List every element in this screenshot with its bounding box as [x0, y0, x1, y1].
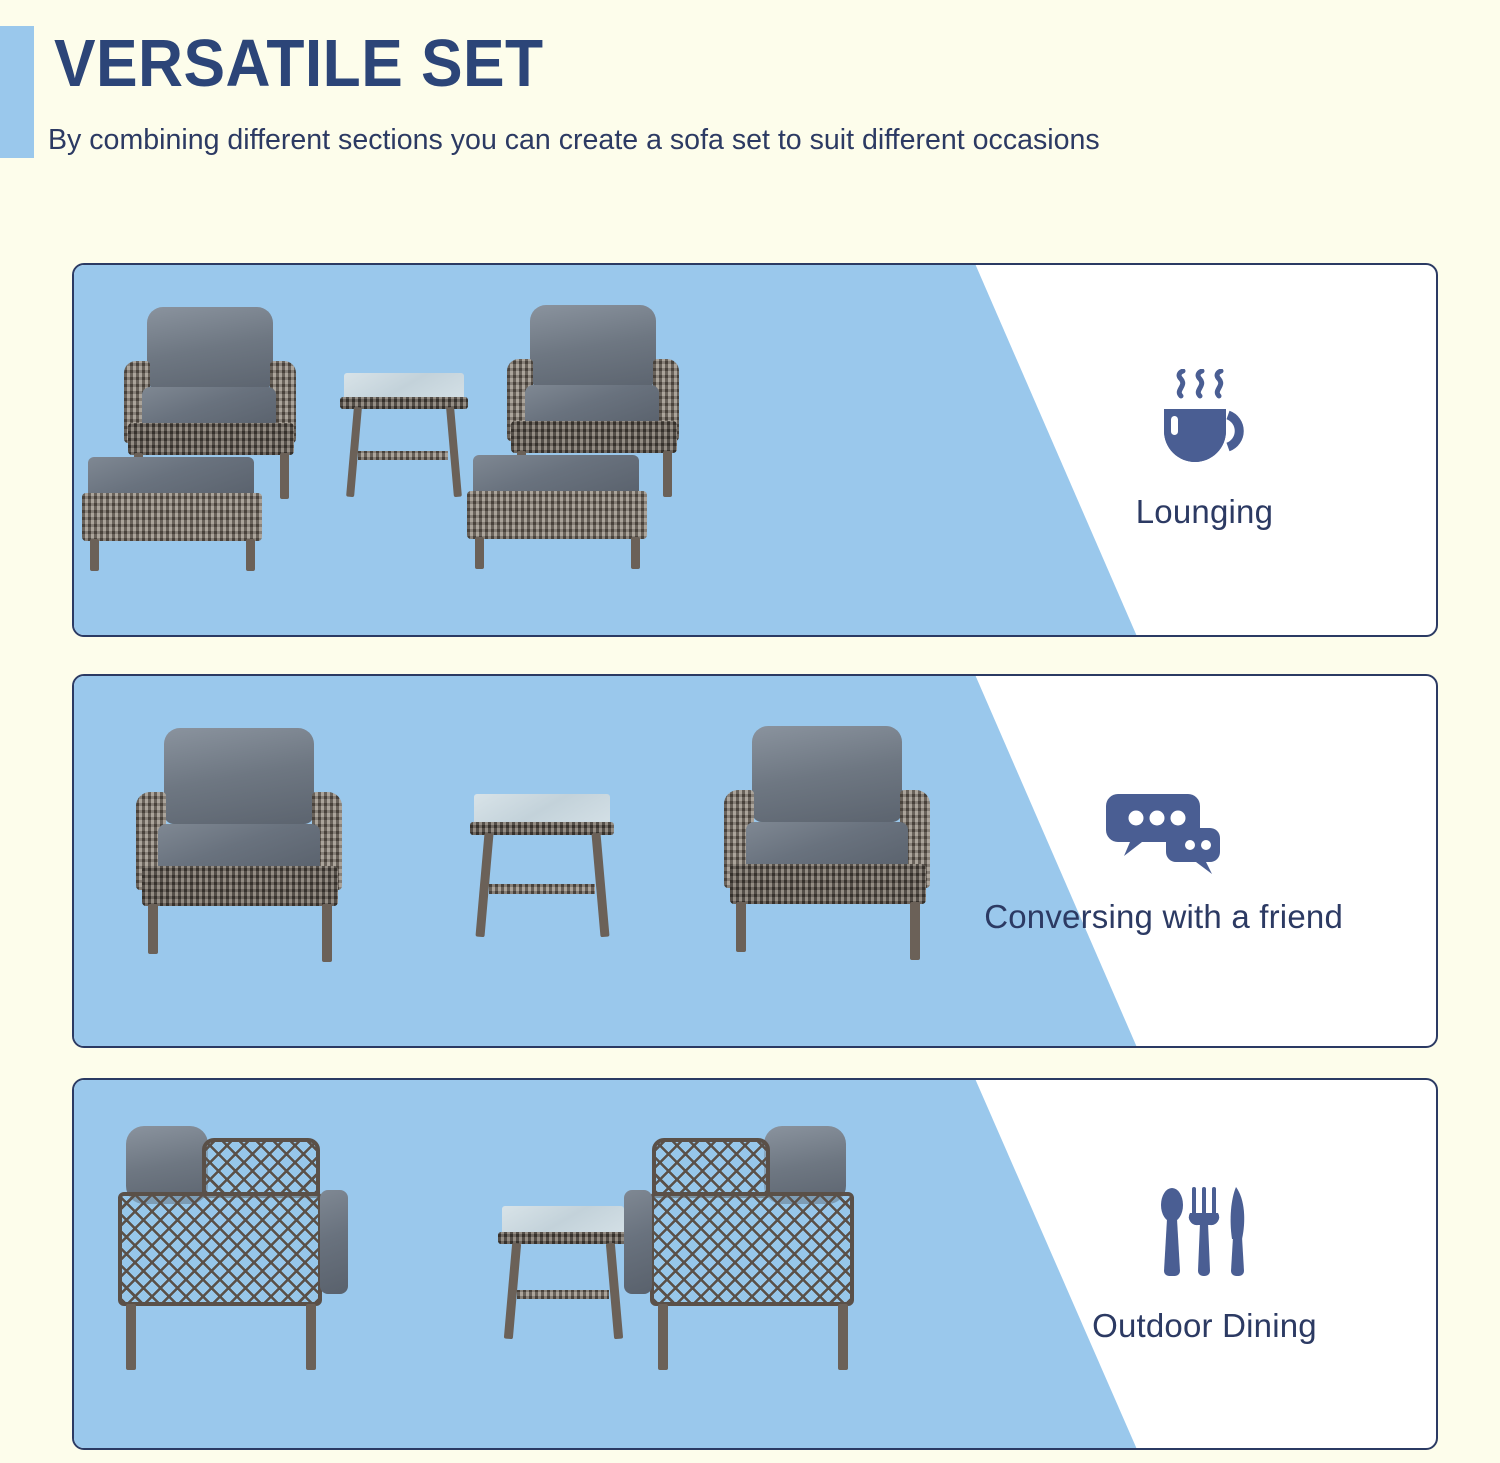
chair-front-apron [142, 866, 338, 906]
table-rim [498, 1232, 628, 1244]
chair-leg [322, 904, 332, 962]
panel-lounging: Lounging [72, 263, 1438, 637]
panel-dining: Outdoor Dining [72, 1078, 1438, 1450]
furniture-scene-lounging [74, 265, 973, 635]
chair-back-cushion [752, 726, 902, 822]
icon-column-lounging: Lounging [973, 265, 1436, 635]
furniture-scene-conversing [74, 676, 973, 1046]
ottoman-leg [475, 537, 484, 569]
chair-leg [838, 1304, 848, 1370]
chair-front-apron [511, 421, 677, 453]
chair-back-cushion [530, 305, 656, 387]
chair-seat-cushion-edge [624, 1190, 652, 1294]
chair-back-cushion [164, 728, 314, 824]
table-stretcher [517, 1290, 609, 1299]
ottoman-leg [631, 537, 640, 569]
chair-back-cushion [147, 307, 273, 389]
panel-conversing: Conversing with a friend [72, 674, 1438, 1048]
chair-leg [126, 1304, 136, 1370]
cutlery-icon [1152, 1183, 1256, 1287]
chair-backrest-lattice [652, 1138, 770, 1198]
furniture-scene-dining [74, 1080, 973, 1448]
chair-side-lattice [650, 1192, 854, 1306]
ottoman-frame [467, 491, 647, 539]
chat-bubbles-icon [1106, 786, 1222, 878]
header-accent-bar [0, 26, 34, 158]
chair-leg [658, 1304, 668, 1370]
coffee-cup-icon [1150, 369, 1258, 473]
chair-leg [148, 904, 158, 954]
page-subtitle: By combining different sections you can … [48, 126, 1100, 155]
chair-seat-cushion-edge [320, 1190, 348, 1294]
panel-label-lounging: Lounging [1136, 493, 1273, 531]
table-stretcher [358, 451, 448, 460]
table-leg [446, 407, 462, 497]
chair-leg [736, 902, 746, 952]
panel-label-conversing: Conversing with a friend [984, 898, 1343, 936]
chair-side-lattice [118, 1192, 322, 1306]
ottoman-frame [82, 493, 262, 541]
chair-leg [663, 451, 672, 497]
icon-column-dining: Outdoor Dining [973, 1080, 1436, 1448]
ottoman-leg [246, 539, 255, 571]
icon-column-conversing: Conversing with a friend [891, 676, 1436, 1046]
chair-backrest-lattice [202, 1138, 320, 1198]
panel-label-dining: Outdoor Dining [1092, 1307, 1317, 1345]
chair-leg [280, 453, 289, 499]
chair-front-apron [128, 423, 294, 455]
ottoman-leg [90, 539, 99, 571]
page-title: VERSATILE SET [54, 30, 544, 97]
chair-leg [306, 1304, 316, 1370]
header: VERSATILE SET By combining different sec… [0, 0, 1500, 200]
table-stretcher [489, 884, 595, 894]
